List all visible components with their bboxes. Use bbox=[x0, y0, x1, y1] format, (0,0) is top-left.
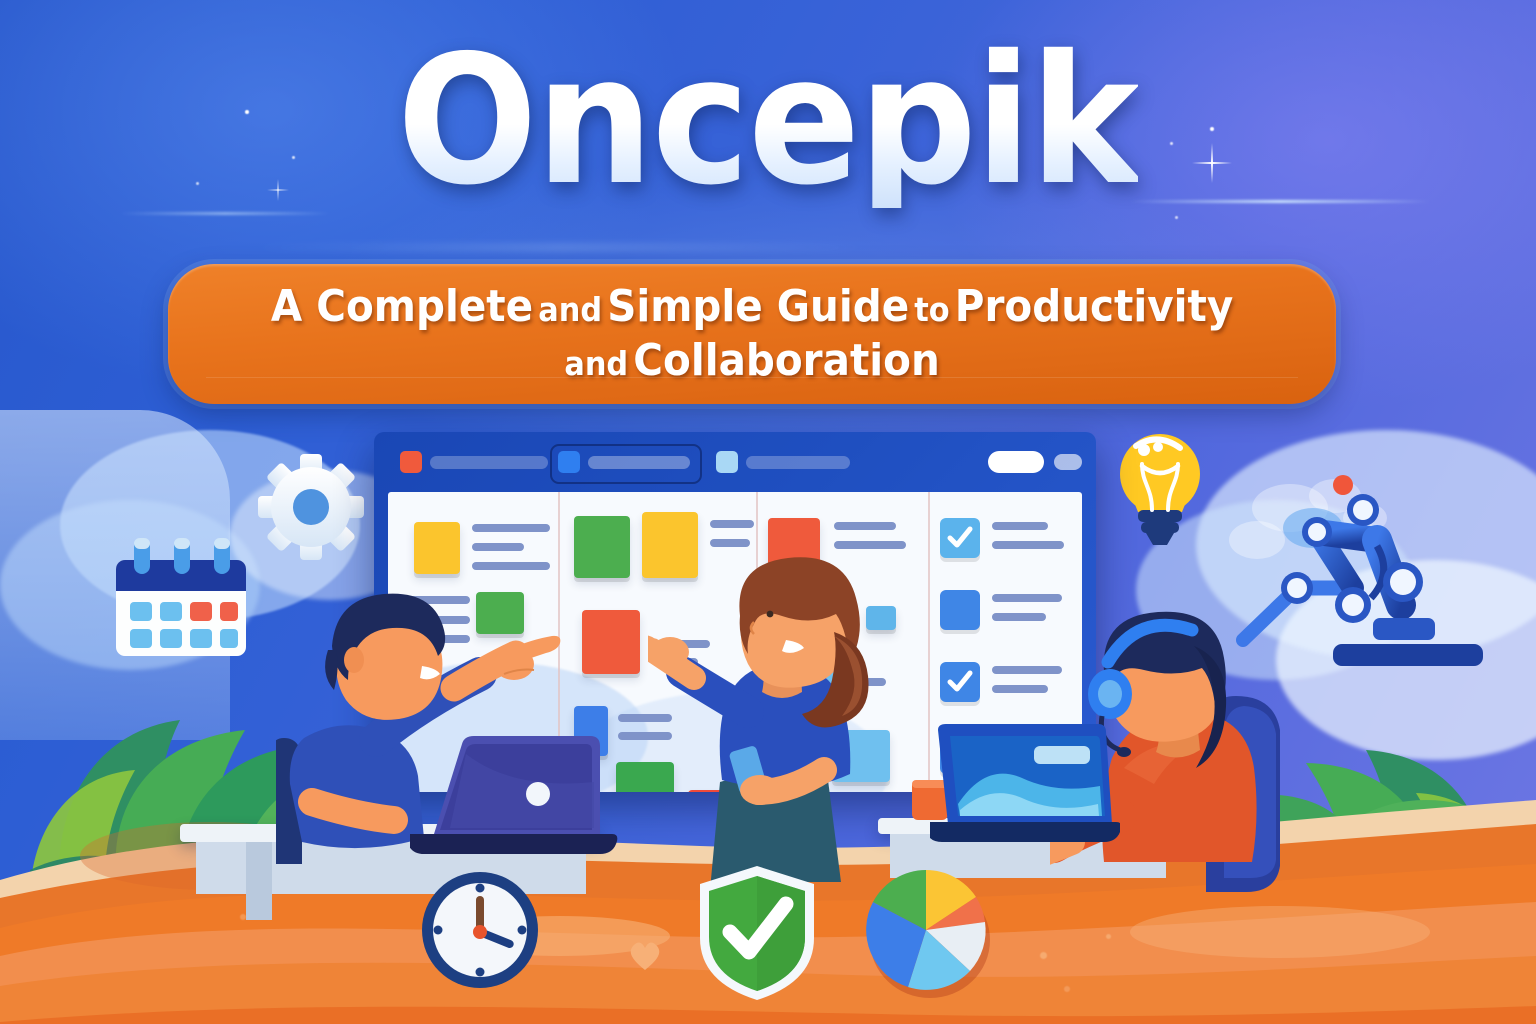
subtitle-seg-productivity: Productivity bbox=[955, 281, 1233, 332]
board-text-line bbox=[472, 543, 524, 551]
toolbar-tab-3-bar[interactable] bbox=[746, 456, 850, 469]
board-text-line bbox=[834, 541, 906, 549]
subtitle-line-1: A Complete and Simple Guide to Productiv… bbox=[271, 283, 1233, 331]
subtitle-seg-collaboration: Collaboration bbox=[633, 335, 940, 386]
gear-icon bbox=[256, 452, 366, 562]
heart-icon bbox=[628, 940, 662, 972]
clock-icon bbox=[418, 868, 542, 992]
sparkle-6 bbox=[1175, 216, 1178, 219]
subtitle-line-2: and Collaboration bbox=[564, 337, 939, 385]
sticky-note-yellow[interactable] bbox=[414, 522, 460, 574]
ground-speck-1 bbox=[1040, 952, 1047, 959]
light-streak-under-title bbox=[250, 245, 870, 250]
light-streak-left bbox=[120, 212, 330, 215]
subtitle-seg-simple-guide: Simple Guide bbox=[607, 281, 909, 332]
toolbar-tab-1-bar[interactable] bbox=[430, 456, 548, 469]
lightbulb-icon bbox=[1112, 428, 1208, 548]
pie-chart-icon bbox=[862, 866, 994, 998]
calendar-icon bbox=[112, 534, 252, 654]
subtitle-banner: A Complete and Simple Guide to Productiv… bbox=[168, 264, 1336, 404]
board-text-line bbox=[710, 520, 754, 528]
toolbar-tab-1-swatch[interactable] bbox=[400, 451, 422, 473]
laptop-left[interactable] bbox=[410, 730, 620, 860]
board-text-line bbox=[710, 539, 750, 547]
page-title: Oncepik bbox=[397, 34, 1138, 208]
hero-title-block: Oncepik bbox=[0, 34, 1536, 208]
left-desk-leg bbox=[246, 842, 272, 920]
toolbar-tab-3-swatch[interactable] bbox=[716, 451, 738, 473]
toolbar-action-secondary[interactable] bbox=[1054, 454, 1082, 470]
board-text-line bbox=[472, 524, 550, 532]
sticky-note-green[interactable] bbox=[574, 516, 630, 578]
board-text-line bbox=[472, 562, 550, 570]
laptop-right[interactable] bbox=[930, 722, 1120, 847]
toolbar-action-primary[interactable] bbox=[988, 451, 1044, 473]
poster-canvas: Oncepik A Complete and Simple Guide to P… bbox=[0, 0, 1536, 1024]
subtitle-seg-and-1: and bbox=[538, 290, 602, 329]
subtitle-seg-and-2: and bbox=[564, 344, 628, 383]
ground-speck-3 bbox=[1064, 986, 1070, 992]
subtitle-seg-to: to bbox=[914, 290, 949, 329]
subtitle-seg-a-complete: A Complete bbox=[271, 281, 533, 332]
board-text-line bbox=[992, 522, 1048, 530]
board-toolbar[interactable] bbox=[374, 440, 1096, 484]
toolbar-selected-highlight bbox=[550, 444, 702, 484]
board-text-line bbox=[992, 685, 1048, 693]
board-text-line bbox=[992, 613, 1046, 621]
ground-speck-4 bbox=[240, 914, 246, 920]
ground-speck-2 bbox=[1106, 934, 1111, 939]
shield-check-icon bbox=[692, 862, 822, 1004]
board-text-line bbox=[834, 522, 896, 530]
board-text-line bbox=[992, 541, 1064, 549]
